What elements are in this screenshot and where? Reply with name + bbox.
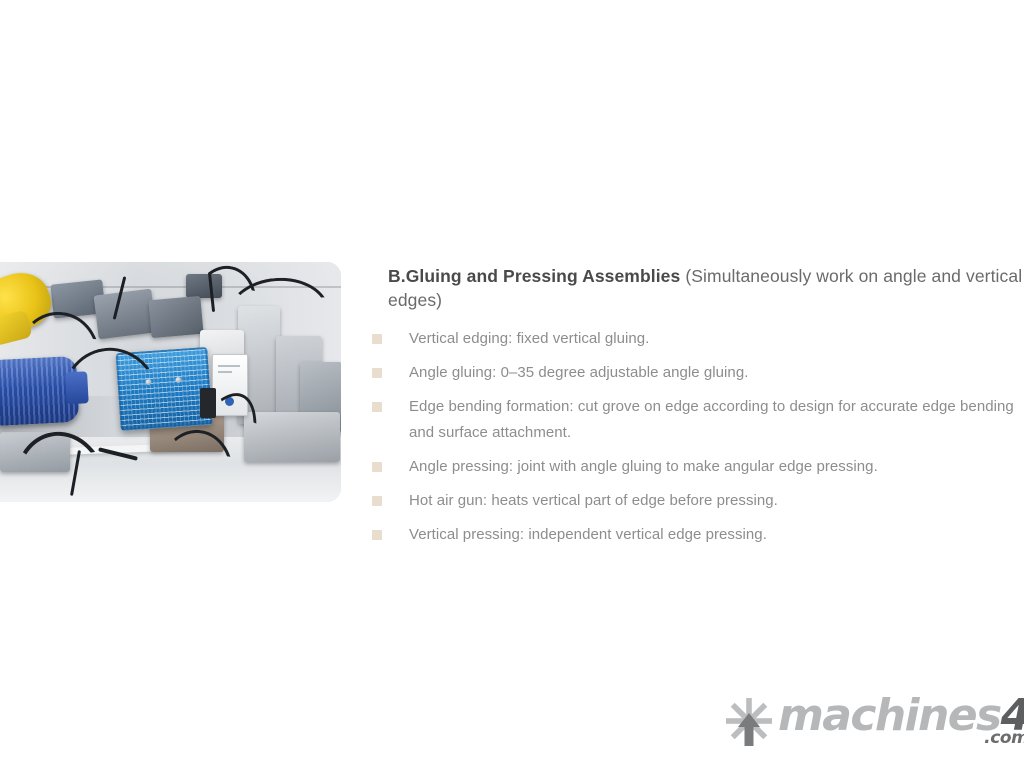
machines4u-watermark: machines4u .com.au — [726, 694, 1018, 752]
list-item-text: Angle gluing: 0–35 degree adjustable ang… — [409, 364, 748, 381]
list-item: Vertical edging: fixed vertical gluing. — [388, 326, 1024, 352]
bullet-square-icon — [372, 496, 382, 506]
list-item: Hot air gun: heats vertical part of edge… — [388, 488, 1024, 514]
feature-description-panel: B.Gluing and Pressing Assemblies (Simult… — [388, 264, 1024, 556]
list-item: Edge bending formation: cut grove on edg… — [388, 394, 1024, 446]
machine-photo-image — [0, 262, 341, 502]
photo-part-rail — [244, 412, 340, 462]
bullet-square-icon — [372, 368, 382, 378]
bullet-square-icon — [372, 462, 382, 472]
section-heading: B.Gluing and Pressing Assemblies (Simult… — [388, 264, 1024, 312]
machines4u-wordmark: machines4u .com.au — [778, 694, 1024, 738]
photo-bolt-2 — [175, 377, 181, 383]
bullet-square-icon — [372, 530, 382, 540]
bullet-square-icon — [372, 402, 382, 412]
feature-list: Vertical edging: fixed vertical gluing. … — [388, 326, 1024, 548]
list-item-text: Vertical pressing: independent vertical … — [409, 526, 767, 543]
list-item: Vertical pressing: independent vertical … — [388, 522, 1024, 548]
section-heading-title: B.Gluing and Pressing Assemblies — [388, 266, 685, 286]
photo-part-grey-block-2 — [94, 289, 157, 340]
logo-tld: .com.au — [984, 730, 1024, 747]
machine-photo — [0, 262, 341, 502]
photo-control-box-line-1 — [218, 365, 240, 367]
asterisk-arrow-icon — [726, 696, 772, 746]
list-item-text: Edge bending formation: cut grove on edg… — [409, 398, 1014, 441]
list-item-text: Vertical edging: fixed vertical gluing. — [409, 330, 649, 347]
list-item: Angle pressing: joint with angle gluing … — [388, 454, 1024, 480]
photo-control-box-line-2 — [218, 371, 232, 373]
photo-part-grey-block-3 — [148, 296, 203, 338]
list-item-text: Hot air gun: heats vertical part of edge… — [409, 492, 778, 509]
list-item-text: Angle pressing: joint with angle gluing … — [409, 458, 878, 475]
bullet-square-icon — [372, 334, 382, 344]
logo-word-main: machines — [778, 690, 1001, 741]
list-item: Angle gluing: 0–35 degree adjustable ang… — [388, 360, 1024, 386]
